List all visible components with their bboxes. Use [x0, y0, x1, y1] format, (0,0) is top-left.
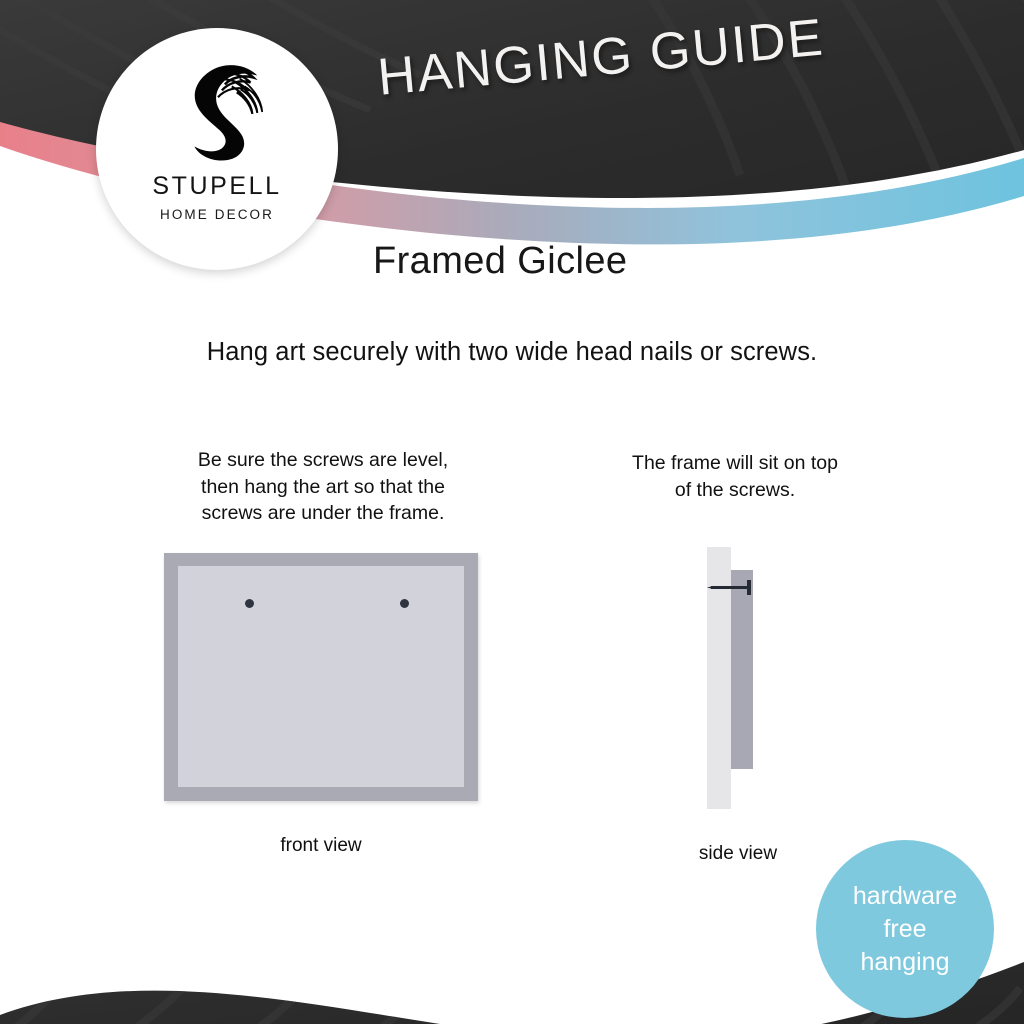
side-caption-line-1: The frame will sit on top [590, 450, 880, 477]
frame-mat-area [178, 566, 464, 787]
logo-tagline: HOME DECOR [160, 208, 274, 222]
side-view-caption: The frame will sit on top of the screws. [590, 450, 880, 503]
product-type-heading: Framed Giclee [373, 240, 627, 283]
hanging-guide-page: STUPELL HOME DECOR HANGING GUIDE Framed … [0, 0, 1024, 1024]
nail-head-icon [747, 580, 751, 595]
badge-line-1: hardware [853, 880, 957, 913]
front-view-caption: Be sure the screws are level, then hang … [140, 447, 506, 527]
side-view-label: side view [648, 843, 828, 865]
nail-shaft-icon [711, 586, 749, 589]
side-view-diagram [707, 547, 769, 809]
hardware-free-hanging-badge: hardware free hanging [816, 840, 994, 1018]
front-caption-line-1: Be sure the screws are level, [140, 447, 506, 474]
main-instruction-text: Hang art securely with two wide head nai… [0, 338, 1024, 367]
page-title: HANGING GUIDE [375, 8, 826, 108]
front-caption-line-3: screws are under the frame. [140, 500, 506, 527]
logo-wordmark: STUPELL [152, 174, 281, 199]
front-view-label: front view [164, 835, 478, 857]
badge-line-2: free [883, 913, 926, 946]
front-caption-line-2: then hang the art so that the [140, 474, 506, 501]
stupell-swirl-s-logo-icon [158, 52, 276, 170]
badge-line-3: hanging [861, 946, 950, 979]
frame-profile [731, 570, 753, 769]
front-view-frame-diagram [164, 553, 478, 801]
screw-dot-left [245, 599, 254, 608]
screw-dot-right [400, 599, 409, 608]
side-caption-line-2: of the screws. [590, 477, 880, 504]
stupell-logo-badge: STUPELL HOME DECOR [96, 28, 338, 270]
